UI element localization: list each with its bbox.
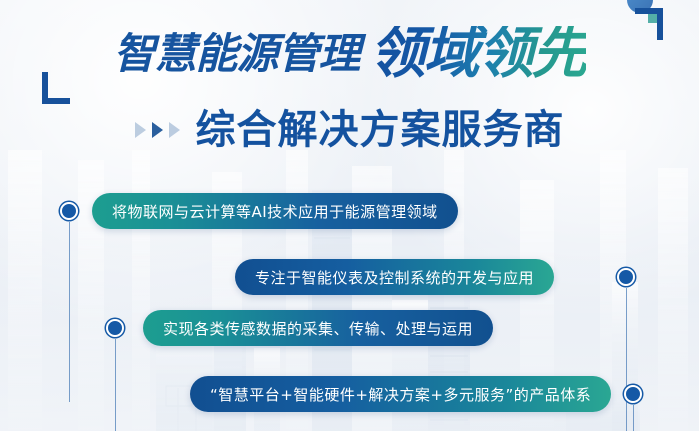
circle-accent-icon (627, 0, 653, 13)
connector-line (115, 339, 116, 431)
headline: 智慧能源管理 领域领先 (0, 18, 699, 90)
bullet-dot-marker-4 (624, 385, 642, 431)
dot-icon (60, 202, 78, 220)
promo-banner: 智慧能源管理 领域领先 综合解决方案服务商 将物联网与云计算等AI技术应用于能源… (0, 0, 699, 431)
connector-line (633, 405, 634, 431)
feature-pill-3: 实现各类传感数据的采集、传输、处理与运用 (143, 310, 493, 346)
subheadline-text: 综合解决方案服务商 (196, 110, 565, 150)
bullet-dot-marker-1 (60, 202, 78, 402)
feature-pill-2: 专注于智能仪表及控制系统的开发与应用 (235, 259, 554, 295)
headline-prefix: 智慧能源管理 (113, 33, 359, 75)
triangle-outline-icon (135, 122, 146, 138)
triangle-marker-group (135, 122, 180, 138)
connector-line (69, 222, 70, 402)
connector-line (626, 288, 627, 431)
feature-pill-4: “智慧平台+智能硬件+解决方案+多元服务”的产品体系 (190, 376, 611, 412)
dot-icon (624, 385, 642, 403)
bullet-dot-marker-2 (617, 268, 635, 431)
dot-icon (617, 268, 635, 286)
triangle-outline-icon (169, 122, 180, 138)
feature-pill-1: 将物联网与云计算等AI技术应用于能源管理领域 (92, 193, 458, 229)
bullet-dot-marker-3 (106, 319, 124, 431)
dot-icon (106, 319, 124, 337)
headline-highlight: 领域领先 (370, 26, 586, 82)
subheadline: 综合解决方案服务商 (0, 104, 699, 156)
triangle-filled-icon (152, 122, 163, 138)
